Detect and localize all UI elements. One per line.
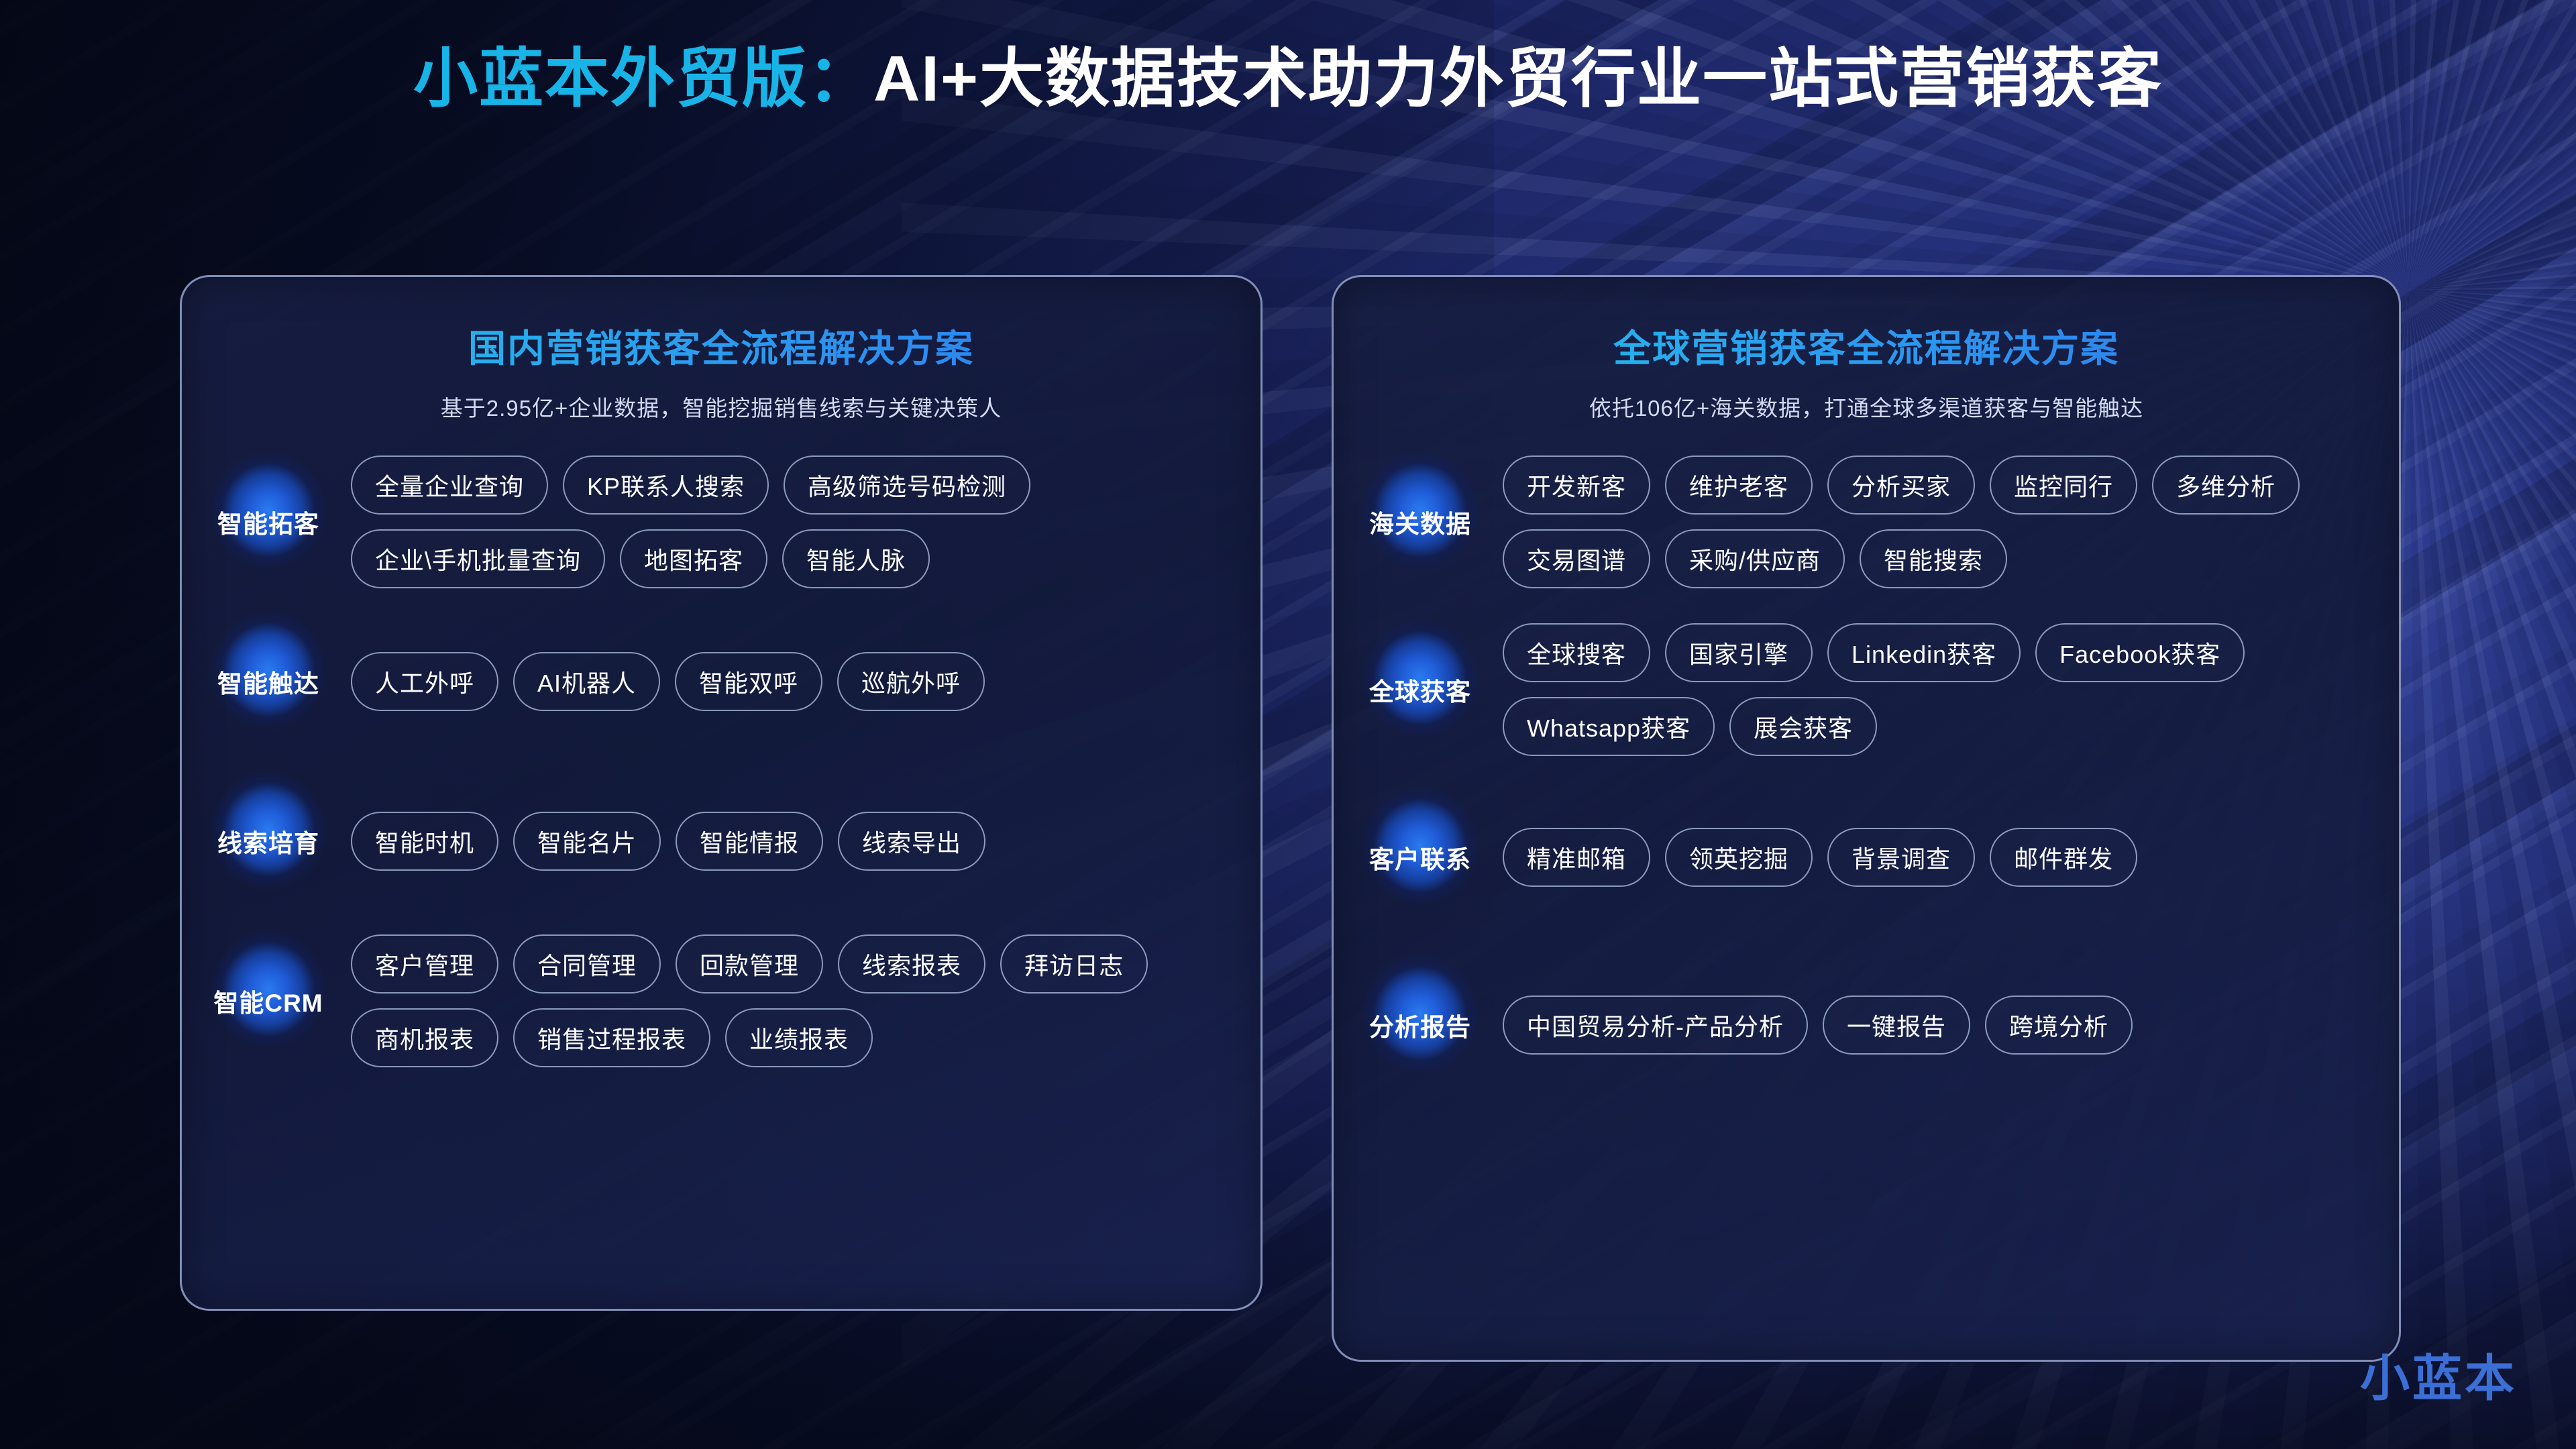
feature-pill[interactable]: AI机器人 (513, 652, 660, 711)
domestic-panel-title: 国内营销获客全流程解决方案 (182, 319, 1260, 373)
feature-pill[interactable]: 维护老客 (1665, 455, 1813, 515)
feature-pill[interactable]: 中国贸易分析-产品分析 (1503, 996, 1808, 1055)
feature-pill[interactable]: 采购/供应商 (1665, 529, 1845, 588)
feature-pill[interactable]: 地图拓客 (620, 529, 767, 588)
feature-pill[interactable]: 回款管理 (676, 934, 823, 994)
feature-pill[interactable]: 展会获客 (1729, 697, 1877, 756)
domestic-panel-subtitle: 基于2.95亿+企业数据，智能挖掘销售线索与关键决策人 (182, 390, 1260, 423)
feature-pill[interactable]: 人工外呼 (351, 652, 498, 711)
feature-pill[interactable]: 国家引擎 (1665, 623, 1813, 682)
feature-pill[interactable]: 背景调查 (1827, 828, 1975, 887)
feature-pill-list: 开发新客维护老客分析买家监控同行多维分析交易图谱采购/供应商智能搜索 (1480, 455, 2369, 588)
domestic-solution-panel: 国内营销获客全流程解决方案 基于2.95亿+企业数据，智能挖掘销售线索与关键决策… (180, 275, 1263, 1311)
feature-pill[interactable]: 商机报表 (351, 1008, 498, 1067)
feature-pill[interactable]: Facebook获客 (2035, 623, 2245, 682)
global-panel-header: 全球营销获客全流程解决方案 依托106亿+海关数据，打通全球多渠道获客与智能触达 (1334, 277, 2399, 423)
feature-pill[interactable]: 智能时机 (351, 812, 498, 871)
feature-group: 线索培育智能时机智能名片智能情报线索导出 (209, 769, 1228, 914)
global-group-badge[interactable]: 分析报告 (1360, 953, 1480, 1097)
feature-pill-list: 精准邮箱领英挖掘背景调查邮件群发 (1480, 828, 2369, 887)
feature-pill[interactable]: 企业\手机批量查询 (351, 529, 605, 588)
global-group-badge[interactable]: 全球获客 (1360, 617, 1480, 762)
brand-logo: 小蓝本 (2360, 1338, 2517, 1410)
feature-pill[interactable]: 全量企业查询 (351, 455, 548, 515)
feature-pill[interactable]: 线索报表 (838, 934, 985, 994)
feature-pill[interactable]: 客户管理 (351, 934, 498, 994)
feature-group: 智能触达人工外呼AI机器人智能双呼巡航外呼 (209, 609, 1228, 754)
page-title: 小蓝本外贸版：AI+大数据技术助力外贸行业一站式营销获客 (0, 40, 2576, 117)
global-solution-panel: 全球营销获客全流程解决方案 依托106亿+海关数据，打通全球多渠道获客与智能触达… (1332, 275, 2401, 1362)
feature-pill[interactable]: 跨境分析 (1985, 996, 2133, 1055)
global-feature-groups: 海关数据开发新客维护老客分析买家监控同行多维分析交易图谱采购/供应商智能搜索全球… (1334, 423, 2399, 1097)
feature-pill[interactable]: 邮件群发 (1990, 828, 2137, 887)
feature-group: 智能拓客全量企业查询KP联系人搜索高级筛选号码检测企业\手机批量查询地图拓客智能… (209, 449, 1228, 594)
feature-pill[interactable]: KP联系人搜索 (563, 455, 769, 515)
feature-pill[interactable]: 智能情报 (676, 812, 823, 871)
feature-group: 智能CRM客户管理合同管理回款管理线索报表拜访日志商机报表销售过程报表业绩报表 (209, 928, 1228, 1073)
feature-pill[interactable]: 一键报告 (1823, 996, 1970, 1055)
domestic-group-badge[interactable]: 线索培育 (209, 769, 328, 914)
feature-pill[interactable]: 交易图谱 (1503, 529, 1650, 588)
feature-pill[interactable]: 智能搜索 (1860, 529, 2007, 588)
global-group-badge[interactable]: 客户联系 (1360, 785, 1480, 930)
feature-pill[interactable]: 智能人脉 (782, 529, 930, 588)
feature-pill[interactable]: 分析买家 (1827, 455, 1975, 515)
feature-group: 海关数据开发新客维护老客分析买家监控同行多维分析交易图谱采购/供应商智能搜索 (1360, 449, 2369, 594)
global-panel-subtitle: 依托106亿+海关数据，打通全球多渠道获客与智能触达 (1334, 390, 2399, 423)
feature-pill-list: 人工外呼AI机器人智能双呼巡航外呼 (328, 652, 1228, 711)
feature-pill-list: 中国贸易分析-产品分析一键报告跨境分析 (1480, 996, 2369, 1055)
domestic-group-badge[interactable]: 智能拓客 (209, 449, 328, 594)
feature-pill-list: 全量企业查询KP联系人搜索高级筛选号码检测企业\手机批量查询地图拓客智能人脉 (328, 455, 1228, 588)
feature-pill[interactable]: Linkedin获客 (1827, 623, 2021, 682)
feature-pill[interactable]: 巡航外呼 (837, 652, 985, 711)
feature-pill[interactable]: 精准邮箱 (1503, 828, 1650, 887)
domestic-group-badge[interactable]: 智能CRM (209, 928, 328, 1073)
global-panel-title: 全球营销获客全流程解决方案 (1334, 319, 2399, 373)
feature-pill[interactable]: 监控同行 (1990, 455, 2137, 515)
feature-pill-list: 全球搜客国家引擎Linkedin获客Facebook获客Whatsapp获客展会… (1480, 623, 2369, 756)
feature-pill[interactable]: 开发新客 (1503, 455, 1650, 515)
feature-pill[interactable]: 销售过程报表 (513, 1008, 710, 1067)
feature-pill[interactable]: 拜访日志 (1000, 934, 1148, 994)
domestic-feature-groups: 智能拓客全量企业查询KP联系人搜索高级筛选号码检测企业\手机批量查询地图拓客智能… (182, 423, 1260, 1073)
domestic-panel-header: 国内营销获客全流程解决方案 基于2.95亿+企业数据，智能挖掘销售线索与关键决策… (182, 277, 1260, 423)
global-group-badge[interactable]: 海关数据 (1360, 449, 1480, 594)
feature-pill[interactable]: 高级筛选号码检测 (784, 455, 1030, 515)
feature-pill[interactable]: 智能名片 (513, 812, 661, 871)
page-title-main: AI+大数据技术助力外贸行业一站式营销获客 (873, 43, 2163, 115)
feature-group: 分析报告中国贸易分析-产品分析一键报告跨境分析 (1360, 953, 2369, 1097)
page-title-accent: 小蓝本外贸版： (413, 43, 873, 115)
feature-group: 全球获客全球搜客国家引擎Linkedin获客Facebook获客Whatsapp… (1360, 617, 2369, 762)
feature-pill[interactable]: 领英挖掘 (1665, 828, 1813, 887)
feature-pill-list: 智能时机智能名片智能情报线索导出 (328, 812, 1228, 871)
feature-pill[interactable]: 智能双呼 (675, 652, 822, 711)
domestic-group-badge[interactable]: 智能触达 (209, 609, 328, 754)
feature-group: 客户联系精准邮箱领英挖掘背景调查邮件群发 (1360, 785, 2369, 930)
feature-pill[interactable]: 多维分析 (2152, 455, 2300, 515)
feature-pill[interactable]: 全球搜客 (1503, 623, 1650, 682)
feature-pill[interactable]: 线索导出 (838, 812, 985, 871)
feature-pill[interactable]: 合同管理 (513, 934, 661, 994)
feature-pill-list: 客户管理合同管理回款管理线索报表拜访日志商机报表销售过程报表业绩报表 (328, 934, 1228, 1067)
feature-pill[interactable]: Whatsapp获客 (1503, 697, 1715, 756)
feature-pill[interactable]: 业绩报表 (725, 1008, 873, 1067)
